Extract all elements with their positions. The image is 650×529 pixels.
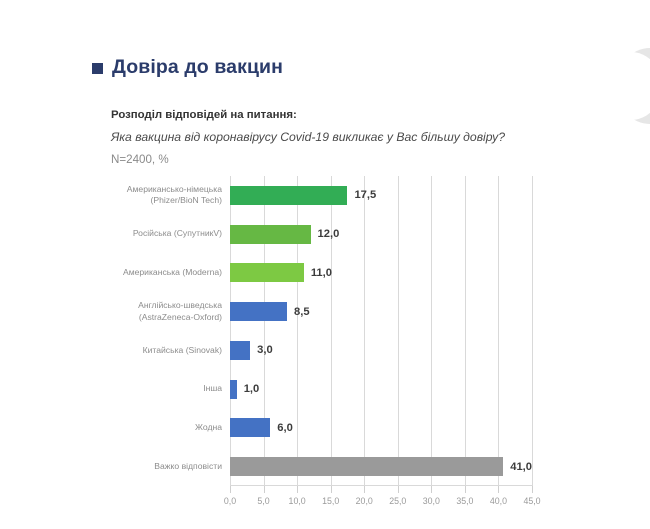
category-label: Жодна [100, 422, 222, 433]
category-label: Англійсько-шведська(AstraZeneca-Oxford) [100, 300, 222, 323]
category-label: Американсько-німецька(Phizer/BioN Tech) [100, 184, 222, 207]
x-tick-label: 35,0 [456, 496, 473, 506]
category-label: Важко відповісти [100, 461, 222, 472]
category-label: Російська (СупутникV) [100, 228, 222, 239]
bar[interactable] [230, 380, 237, 399]
x-tick-label: 5,0 [257, 496, 269, 506]
x-tick-label: 20,0 [356, 496, 373, 506]
x-tick-label: 25,0 [389, 496, 406, 506]
tick-mark [264, 486, 265, 493]
x-tick-label: 30,0 [423, 496, 440, 506]
category-label-line: Американсько-німецька [100, 184, 222, 195]
tick-mark [465, 486, 466, 493]
x-tick-label: 0,0 [224, 496, 236, 506]
category-label-line: Російська (СупутникV) [100, 228, 222, 239]
tick-mark [431, 486, 432, 493]
category-label: Інша [100, 383, 222, 394]
bar-row[interactable]: 12,0 [230, 225, 532, 244]
category-label-line: Американська (Moderna) [100, 267, 222, 278]
bar-value-label: 1,0 [244, 383, 260, 395]
bar-row[interactable]: 6,0 [230, 418, 532, 437]
x-tick-label: 15,0 [322, 496, 339, 506]
bar-value-label: 41,0 [510, 461, 532, 473]
x-axis-ticks: 0,05,010,015,020,025,030,035,040,045,0 [230, 486, 532, 516]
tick-mark [331, 486, 332, 493]
bar-rows: 17,512,011,08,53,01,06,041,0 [230, 176, 532, 486]
slide-canvas: Довіра до вакцин Розподіл відповідей на … [0, 0, 650, 529]
category-label-line: (AstraZeneca-Oxford) [100, 312, 222, 323]
subtitle-lead: Розподіл відповідей на питання: [111, 108, 531, 124]
category-label-line: Жодна [100, 422, 222, 433]
bar-value-label: 6,0 [277, 422, 293, 434]
category-label-line: Інша [100, 383, 222, 394]
subtitle-sample-size: N=2400, % [111, 153, 169, 166]
tick-mark [230, 486, 231, 493]
category-label-line: Важко відповісти [100, 461, 222, 472]
category-label-line: Англійсько-шведська [100, 300, 222, 311]
crescent-decoration-icon [616, 48, 650, 124]
tick-mark [297, 486, 298, 493]
bar-value-label: 8,5 [294, 306, 310, 318]
tick-mark [398, 486, 399, 493]
bar[interactable] [230, 457, 503, 476]
page-title-row: Довіра до вакцин [92, 56, 283, 79]
bar-row[interactable]: 11,0 [230, 263, 532, 282]
bar[interactable] [230, 186, 347, 205]
tick-mark [498, 486, 499, 493]
x-tick-label: 40,0 [490, 496, 507, 506]
tick-mark [532, 486, 533, 493]
plot-wrapper: Американсько-німецька(Phizer/BioN Tech)Р… [100, 176, 620, 486]
bar-row[interactable]: 41,0 [230, 457, 532, 476]
crescent-inner-cutout [616, 52, 650, 120]
gridline [532, 176, 533, 486]
bar[interactable] [230, 341, 250, 360]
bar[interactable] [230, 418, 270, 437]
bar-chart: Американсько-німецька(Phizer/BioN Tech)Р… [100, 176, 620, 516]
category-label: Американська (Moderna) [100, 267, 222, 278]
category-axis-labels: Американсько-німецька(Phizer/BioN Tech)Р… [100, 176, 228, 486]
x-tick-label: 10,0 [289, 496, 306, 506]
category-label: Китайська (Sinovak) [100, 345, 222, 356]
bar-value-label: 11,0 [311, 267, 332, 279]
bar-row[interactable]: 3,0 [230, 341, 532, 360]
bar-value-label: 3,0 [257, 344, 273, 356]
category-label-line: (Phizer/BioN Tech) [100, 195, 222, 206]
plot-area: 17,512,011,08,53,01,06,041,0 [230, 176, 532, 486]
bar[interactable] [230, 225, 311, 244]
bar-value-label: 17,5 [354, 189, 376, 201]
bar-value-label: 12,0 [318, 228, 340, 240]
subtitle-question: Яка вакцина від коронавірусу Covid-19 ви… [111, 130, 505, 144]
bar[interactable] [230, 302, 287, 321]
category-label-line: Китайська (Sinovak) [100, 345, 222, 356]
bar-row[interactable]: 17,5 [230, 186, 532, 205]
tick-mark [364, 486, 365, 493]
square-bullet-icon [92, 63, 103, 74]
chart-subtitle-block: Розподіл відповідей на питання: Яка вакц… [111, 108, 531, 170]
bar[interactable] [230, 263, 304, 282]
page-title: Довіра до вакцин [112, 56, 283, 79]
bar-row[interactable]: 1,0 [230, 380, 532, 399]
x-tick-label: 45,0 [523, 496, 540, 506]
bar-row[interactable]: 8,5 [230, 302, 532, 321]
